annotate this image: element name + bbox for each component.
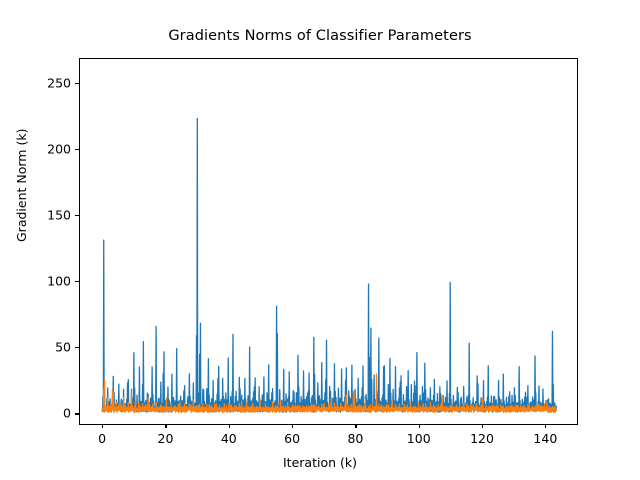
y-tick-label: 0 <box>63 406 71 421</box>
y-tick-label: 250 <box>47 75 71 90</box>
x-tick-label: 40 <box>221 431 237 446</box>
x-axis-label: Iteration (k) <box>0 455 640 470</box>
y-tick-label: 50 <box>55 340 71 355</box>
line-series_1 <box>102 118 556 412</box>
x-tick-label: 20 <box>158 431 174 446</box>
data-series-svg <box>80 59 577 424</box>
y-axis-label: Gradient Norm (k) <box>14 129 29 242</box>
figure-canvas: Gradients Norms of Classifier Parameters… <box>0 0 640 480</box>
chart-title: Gradients Norms of Classifier Parameters <box>0 28 640 44</box>
x-tick-label: 120 <box>470 431 494 446</box>
x-tick-label: 100 <box>407 431 431 446</box>
x-tick-label: 140 <box>533 431 557 446</box>
x-tick-label: 60 <box>284 431 300 446</box>
y-tick-label: 100 <box>47 274 71 289</box>
x-tick-label: 0 <box>98 431 106 446</box>
y-tick-label: 150 <box>47 208 71 223</box>
x-tick-label: 80 <box>347 431 363 446</box>
plot-area <box>79 58 578 425</box>
y-tick-label: 200 <box>47 141 71 156</box>
